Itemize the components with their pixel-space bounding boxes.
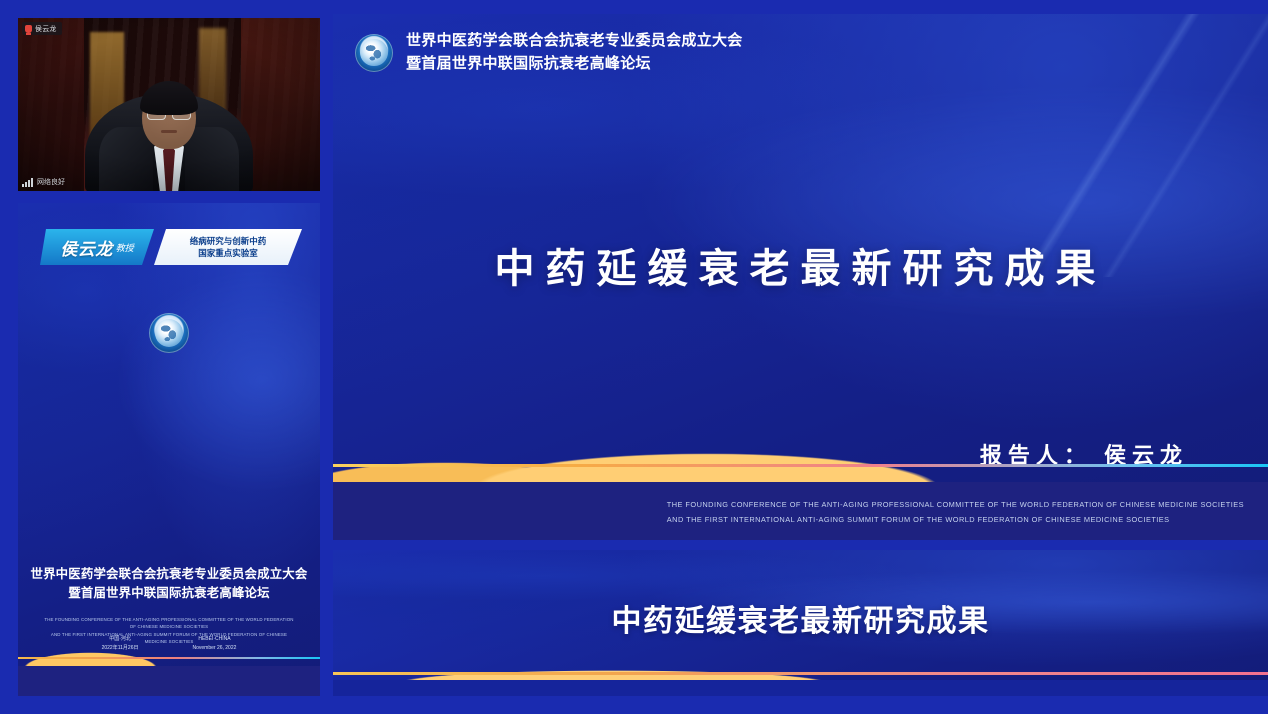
main-header-line-2: 暨首届世界中联国际抗衰老高峰论坛 (406, 53, 743, 76)
mic-muted-icon (25, 25, 32, 33)
thumb-footer-bar (18, 666, 320, 696)
main-footer-en-2: AND THE FIRST INTERNATIONAL ANTI-AGING S… (667, 513, 1244, 527)
screen-share-view: 侯云龙 网络良好 侯云龙 教授 络病研究与创新中药 国家重点实验室 世界中医药学… (0, 0, 1268, 714)
speaker-banner-left: 侯云龙 教授 (40, 229, 154, 265)
thumb-gold-ribbon (18, 648, 320, 666)
network-label: 网络良好 (37, 177, 65, 187)
main-gold-ribbon (333, 448, 1268, 482)
main-footer-en: THE FOUNDING CONFERENCE OF THE ANTI-AGIN… (667, 498, 1244, 527)
slide-thumbnail-panel[interactable]: 侯云龙 教授 络病研究与创新中药 国家重点实验室 世界中医药学会联合会抗衰老专业… (18, 203, 320, 696)
lab-line-2: 国家重点实验室 (198, 247, 258, 259)
thumb-location-cn: 中国·河北 (102, 635, 139, 644)
speaker-title: 教授 (116, 241, 134, 254)
main-footer-en-1: THE FOUNDING CONFERENCE OF THE ANTI-AGIN… (667, 498, 1244, 512)
main-shared-slide[interactable]: 世界中医药学会联合会抗衰老专业委员会成立大会 暨首届世界中联国际抗衰老高峰论坛 … (333, 14, 1268, 540)
preview-slide-title: 中药延缓衰老最新研究成果 (333, 596, 1268, 640)
thumb-conf-line-2: 暨首届世界中联国际抗衰老高峰论坛 (18, 584, 320, 603)
conference-emblem-icon (355, 34, 393, 72)
next-slide-preview[interactable]: 中药延缓衰老最新研究成果 (333, 550, 1268, 696)
main-slide-title: 中药延缓衰老最新研究成果 (333, 236, 1268, 294)
preview-gold-ribbon (333, 666, 1268, 680)
thumb-conf-en-1: THE FOUNDING CONFERENCE OF THE ANTI-AGIN… (44, 616, 294, 631)
participant-name: 侯云龙 (35, 24, 57, 34)
speaker-name: 侯云龙 (60, 235, 113, 260)
main-header-text: 世界中医药学会联合会抗衰老专业委员会成立大会 暨首届世界中联国际抗衰老高峰论坛 (406, 30, 743, 75)
thumb-location-en: HEBEI·CHINA (192, 635, 236, 644)
main-header-line-1: 世界中医药学会联合会抗衰老专业委员会成立大会 (406, 30, 743, 53)
webcam-vignette (18, 18, 320, 191)
participant-name-tag: 侯云龙 (22, 22, 62, 35)
lab-banner-right: 络病研究与创新中药 国家重点实验室 (154, 229, 302, 265)
signal-bars-icon (22, 178, 33, 187)
preview-footer-bar (333, 680, 1268, 696)
thumb-conf-line-1: 世界中医药学会联合会抗衰老专业委员会成立大会 (18, 565, 320, 584)
webcam-video-tile[interactable]: 侯云龙 网络良好 (18, 18, 320, 191)
main-slide-header: 世界中医药学会联合会抗衰老专业委员会成立大会 暨首届世界中联国际抗衰老高峰论坛 (355, 30, 743, 75)
speaker-banner: 侯云龙 教授 络病研究与创新中药 国家重点实验室 (40, 229, 302, 265)
network-status: 网络良好 (22, 175, 65, 187)
lab-line-1: 络病研究与创新中药 (190, 235, 267, 247)
conference-emblem-icon (149, 313, 189, 353)
thumb-conference-title: 世界中医药学会联合会抗衰老专业委员会成立大会 暨首届世界中联国际抗衰老高峰论坛 (18, 565, 320, 603)
